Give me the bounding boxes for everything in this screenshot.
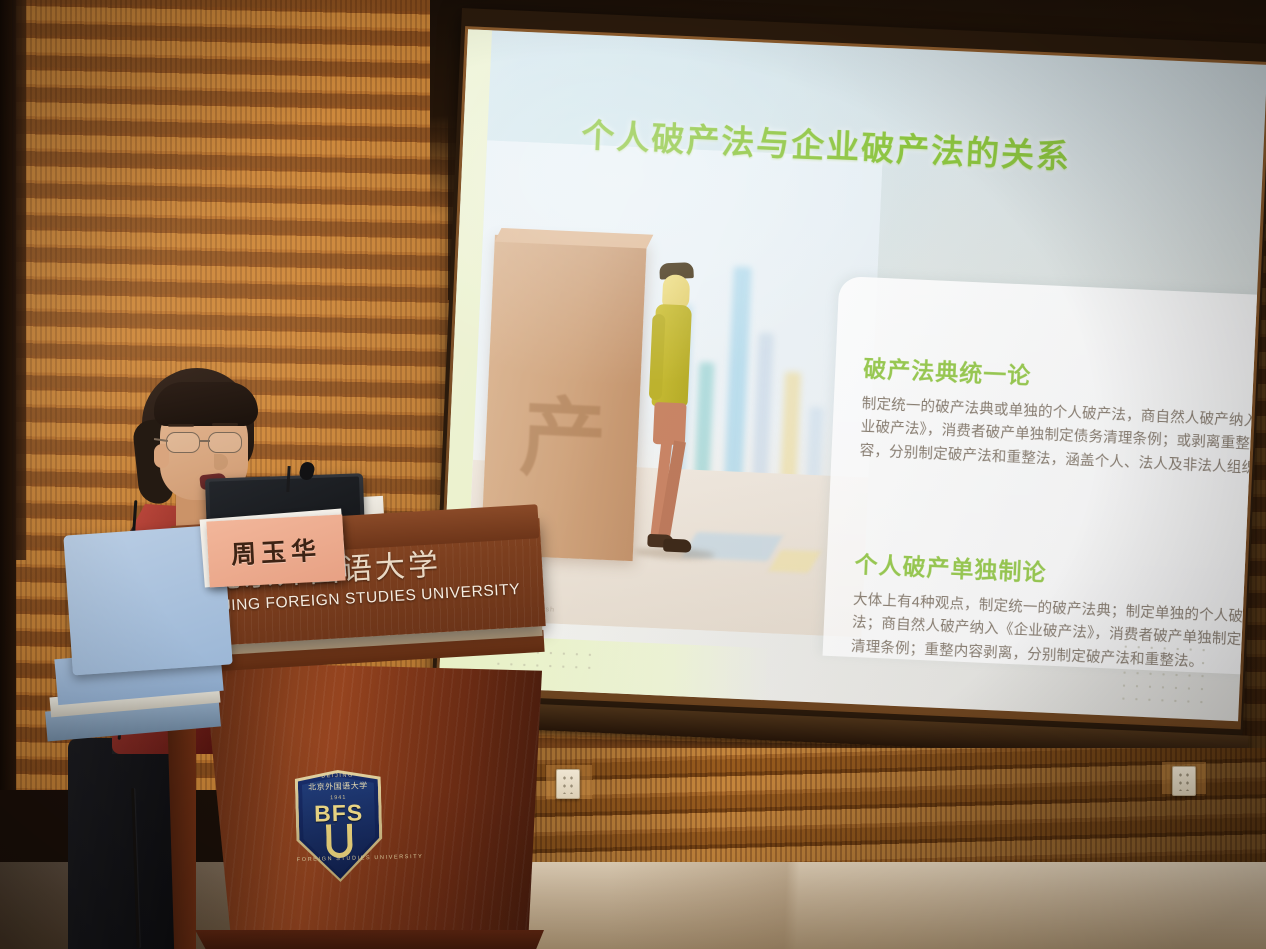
slide-section-1: 破产法典统一论 制定统一的破产法典或单独的个人破产法，商自然人破产纳入《企业破产… — [859, 349, 1266, 482]
power-outlet-left[interactable] — [556, 769, 580, 799]
projection-screen: 产 Photo by unsplash 个人破产法与企业破产法的 — [428, 8, 1266, 803]
crest-chinese-name: 北京外国语大学 — [295, 780, 381, 793]
outlet-holes-icon — [561, 774, 575, 794]
slide-section-1-heading: 破产法典统一论 — [863, 349, 1266, 402]
figurine — [639, 262, 718, 565]
speaker-eyebrow-left — [168, 424, 194, 427]
speaker-eyebrow-right — [212, 423, 238, 426]
slide-text-card: 破产法典统一论 制定统一的破产法典或单独的个人破产法，商自然人破产纳入《企业破产… — [823, 276, 1266, 675]
speaker-name: 周玉华 — [230, 531, 322, 572]
figurine-shorts — [653, 402, 687, 445]
slide-section-2-heading: 个人破产单独制论 — [854, 545, 1266, 598]
crest-ring-bottom-text: FOREIGN STUDIES UNIVERSITY — [297, 855, 383, 863]
power-outlet-right[interactable] — [1172, 766, 1196, 796]
speaker-glasses — [162, 432, 254, 454]
glasses-bridge — [200, 440, 210, 442]
figurine-shoe-right — [663, 538, 692, 552]
lectern-base — [188, 930, 544, 949]
lecture-hall-scene: 产 Photo by unsplash 个人破产法与企业破产法的 — [0, 0, 1266, 949]
slide-dot-grid-bottom-right — [1117, 640, 1210, 706]
lectern: BEIJING 北京外国语大学 1941 BFS FOREIGN STUDIES… — [60, 512, 540, 949]
glasses-lens-right — [208, 432, 242, 453]
presentation-slide: 产 Photo by unsplash 个人破产法与企业破产法的 — [439, 29, 1266, 721]
university-crest: BEIJING 北京外国语大学 1941 BFS FOREIGN STUDIES… — [295, 769, 384, 883]
crest-u-shape — [326, 824, 353, 859]
glasses-lens-left — [166, 432, 200, 453]
outlet-holes-icon — [1177, 771, 1191, 791]
crest-initials: BFS — [295, 801, 382, 826]
wall-left-jamb-inner — [12, 0, 26, 560]
speaker-hair-fringe — [154, 382, 258, 426]
slide-section-1-body: 制定统一的破产法典或单独的个人破产法，商自然人破产纳入《企业破产法》，消费者破产… — [859, 393, 1266, 483]
box-character-label: 产 — [518, 366, 609, 495]
speaker-nameplate: 周玉华 — [206, 514, 345, 587]
